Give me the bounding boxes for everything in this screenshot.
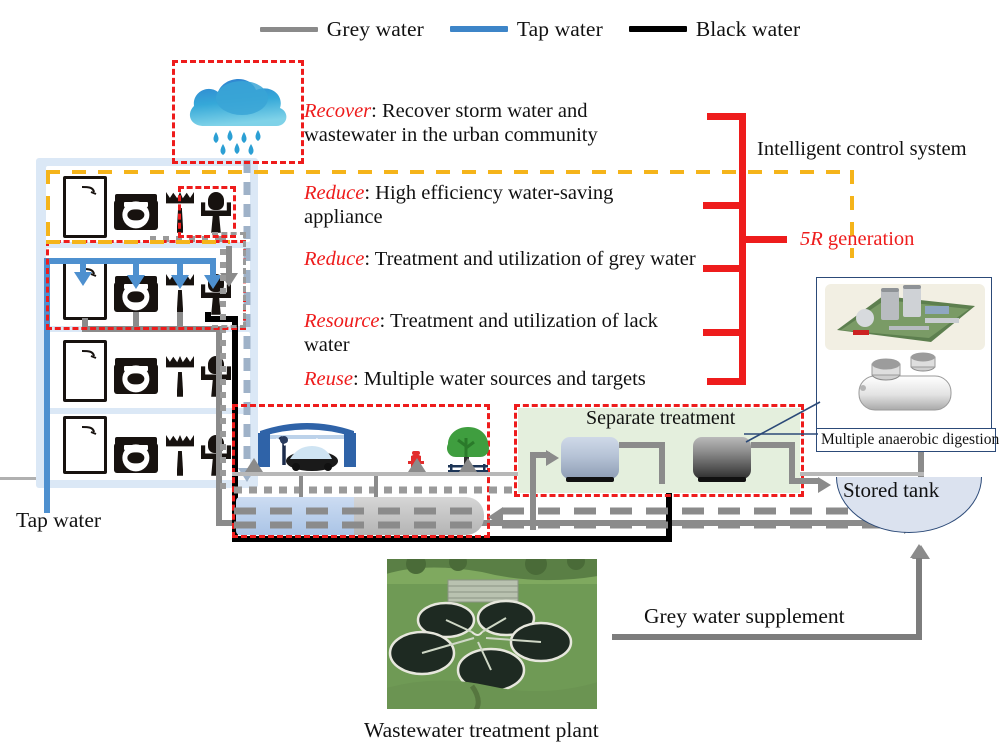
fiveR-generation-label: 5R 5R generationgeneration: [800, 228, 914, 251]
legend-label-black-water: Black water: [696, 17, 800, 42]
washing-machine-icon-f4: [114, 194, 158, 230]
fiveR-keyword-recover: Recover: [304, 100, 371, 122]
grey-water-supplement-line: [612, 634, 922, 640]
fiveR-item-reduce-greywater: Reduce: Treatment and utilization of gre…: [304, 248, 704, 272]
legend: Grey water Tap water Black water: [250, 10, 810, 48]
fiveR-item-resource: Resource: Treatment and utilization of l…: [304, 310, 676, 358]
outlet-arrow-anaerobic-tank: [818, 477, 831, 493]
greywater-return-dashed-lines-left: [234, 505, 488, 531]
carwash-connector-stub: [299, 476, 303, 498]
stored-tank-label: Stored tank: [843, 478, 939, 503]
tap-water-label: Tap water: [16, 508, 101, 533]
intelligent-control-dashed-left: [46, 170, 50, 244]
hydrant-connector-stub: [374, 476, 378, 498]
fiveR-bracket-tick-5: [707, 378, 746, 385]
black-water-line-swatch-icon: [629, 26, 687, 32]
wastewater-treatment-plant-photo: [386, 558, 598, 710]
outlet-riser-primary-tank: [659, 442, 665, 484]
legend-item-tap-water: Tap water: [450, 17, 603, 42]
fiveR-bracket-tick-3: [703, 265, 746, 272]
faucet-icon: [81, 185, 97, 195]
legend-item-black-water: Black water: [629, 17, 800, 42]
legend-label-tap-water: Tap water: [517, 17, 603, 42]
shower-cabinet-icon-f2: [63, 340, 107, 402]
wastewater-plant-label: Wastewater treatment plant: [364, 718, 599, 743]
grey-water-line-swatch-icon: [260, 27, 318, 32]
intelligent-control-system-label: Intelligent control system: [757, 138, 967, 161]
grey-water-supplement-label: Grey water supplement: [644, 604, 845, 629]
inlet-riser-primary-tank: [530, 452, 536, 530]
fiveR-item-reduce-appliance: Reduce: High efficiency water-saving app…: [304, 182, 674, 230]
fiveR-keyword-reuse: Reuse: [304, 368, 353, 390]
sink-basin-icon-f1: [166, 435, 194, 475]
wwtp-aerial-illustration: [386, 558, 598, 710]
intelligent-control-dashed-top: [46, 170, 854, 174]
faucet-icon: [81, 425, 97, 435]
reduce-appliance-highlight-box: [178, 186, 236, 238]
outlet-elbow-anaerobic-tank: [789, 478, 819, 484]
treatment-tank-primary-foot: [566, 477, 614, 482]
shower-cabinet-icon-f1: [63, 416, 107, 474]
carwash-supply-arrow: [245, 458, 263, 472]
separate-treatment-label: Separate treatment: [586, 407, 735, 430]
legend-label-grey-water: Grey water: [327, 17, 424, 42]
fiveR-bracket-tick-4: [703, 329, 746, 336]
fiveR-bracket-out-stub: [739, 236, 787, 243]
shower-cabinet-icon-f4: [63, 176, 107, 238]
anaerobic-plant-photo-icon: [825, 284, 985, 350]
fiveR-keyword-resource: Resource: [304, 310, 380, 332]
tree-irrigation-arrow: [459, 458, 477, 472]
fiveR-keyword-reduce-greywater: Reduce: [304, 248, 364, 270]
faucet-icon: [81, 349, 97, 359]
grey-water-supplement-arrow: [910, 544, 928, 558]
car-wash-icon: [254, 415, 360, 473]
anaerobic-leader-line-2: [744, 426, 822, 442]
greywater-route-dashed-box: [212, 232, 246, 328]
intelligent-control-dashed-bottom: [46, 240, 230, 244]
hydrant-supply-arrow: [408, 458, 426, 472]
fiveR-bracket-tick-2: [703, 202, 746, 209]
fiveR-item-recover: Recover: Recover storm water and wastewa…: [304, 100, 684, 148]
rain-cloud-icon: [182, 70, 294, 156]
fiveR-text-reuse: : Multiple water sources and targets: [353, 368, 646, 390]
septic-tank-icon: [853, 352, 957, 418]
treatment-tank-anaerobic-foot: [698, 477, 746, 482]
washing-machine-icon-f1: [114, 437, 158, 473]
fiveR-keyword-reduce-appliance: Reduce: [304, 182, 364, 204]
treatment-tank-primary: [561, 437, 619, 479]
tap-water-line-swatch-icon: [450, 26, 508, 32]
anaerobic-inset-panel: [816, 277, 992, 429]
grey-water-supplement-riser: [916, 556, 922, 636]
sink-basin-icon-f2: [166, 356, 194, 396]
fiveR-bracket-tick-1: [707, 113, 746, 120]
inflow-arrow-to-underground-tank: [488, 507, 503, 527]
fiveR-bracket-spine: [739, 113, 746, 385]
multiple-anaerobic-digestion-caption: Multiple anaerobic digestion: [816, 428, 996, 452]
legend-item-grey-water: Grey water: [260, 17, 424, 42]
fiveR-item-reuse: Reuse: Multiple water sources and target…: [304, 368, 704, 392]
washing-machine-icon-f2: [114, 358, 158, 394]
fiveR-text-reduce-greywater: : Treatment and utilization of grey wate…: [364, 248, 695, 270]
